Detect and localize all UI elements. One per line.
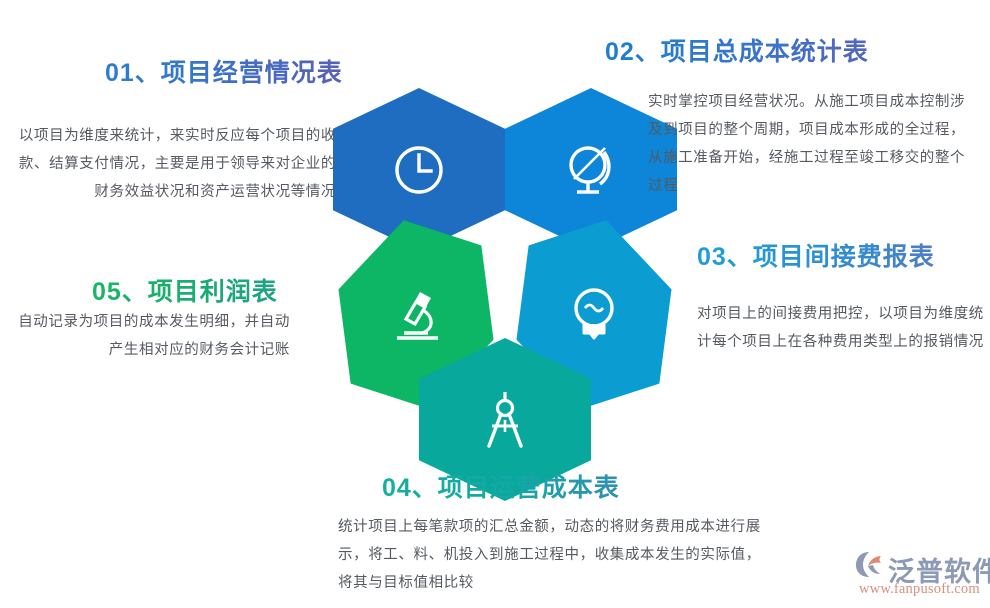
brand-logo[interactable]: 泛普软件 www.fanpusoft.com xyxy=(855,548,987,600)
section-body-01: 以项目为维度来统计，来实时反应每个项目的收款、结算支付情况，主要是用于领导来对企… xyxy=(6,122,336,206)
section-heading-01: 01、项目经营情况表 xyxy=(105,53,343,89)
section-body-03: 对项目上的间接费用把控，以项目为维度统计每个项目上在各种费用类型上的报销情况 xyxy=(697,300,987,356)
logo-url: www.fanpusoft.com xyxy=(859,581,980,598)
section-heading-02: 02、项目总成本统计表 xyxy=(605,32,869,68)
section-body-05: 自动记录为项目的成本发生明细，并自动产生相对应的财务会计记账 xyxy=(8,308,290,364)
section-body-02: 实时掌控项目经营状况。从施工项目成本控制涉及到项目的整个周期，项目成本形成的全过… xyxy=(648,88,980,200)
swirl-logo-icon xyxy=(855,550,885,584)
section-heading-03: 03、项目间接费报表 xyxy=(697,237,935,273)
section-body-04: 统计项目上每笔款项的汇总金额，动态的将财务费用成本进行展示，将工、料、机投入到施… xyxy=(338,513,762,597)
infographic-canvas: 01、项目经营情况表 以项目为维度来统计，来实时反应每个项目的收款、结算支付情况… xyxy=(0,0,990,608)
section-heading-04: 04、项目运营成本表 xyxy=(382,468,620,504)
section-heading-05: 05、项目利润表 xyxy=(92,272,278,308)
